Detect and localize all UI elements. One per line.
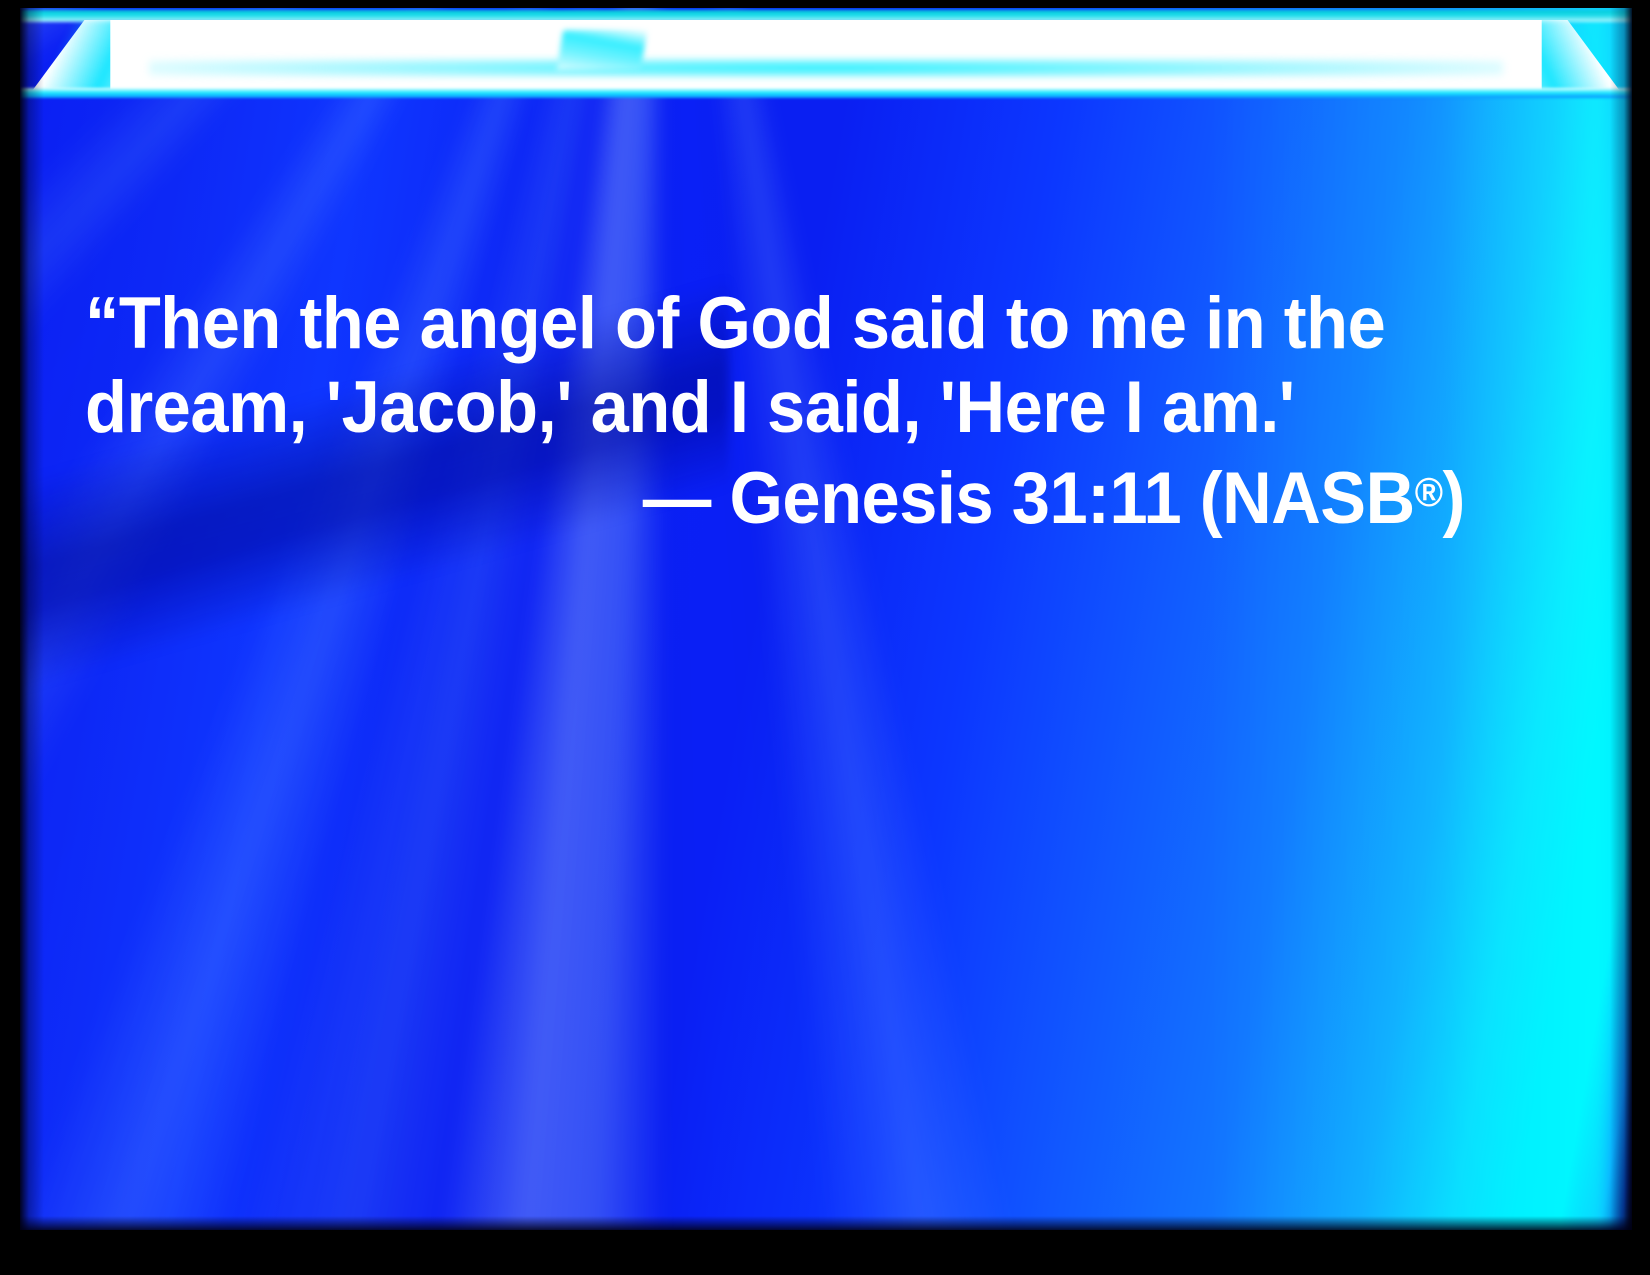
- verse-reference-prefix: — Genesis 31:11 (NASB: [643, 458, 1415, 539]
- verse-body-text: “Then the angel of God said to me in the…: [85, 282, 1476, 450]
- scripture-slide: “Then the angel of God said to me in the…: [0, 0, 1650, 1275]
- verse-text-block: “Then the angel of God said to me in the…: [85, 114, 1476, 709]
- slide-canvas: “Then the angel of God said to me in the…: [20, 8, 1632, 1230]
- verse-reference: — Genesis 31:11 (NASB®): [85, 450, 1476, 541]
- verse-reference-suffix: ): [1443, 458, 1465, 539]
- registered-trademark-icon: ®: [1415, 469, 1443, 515]
